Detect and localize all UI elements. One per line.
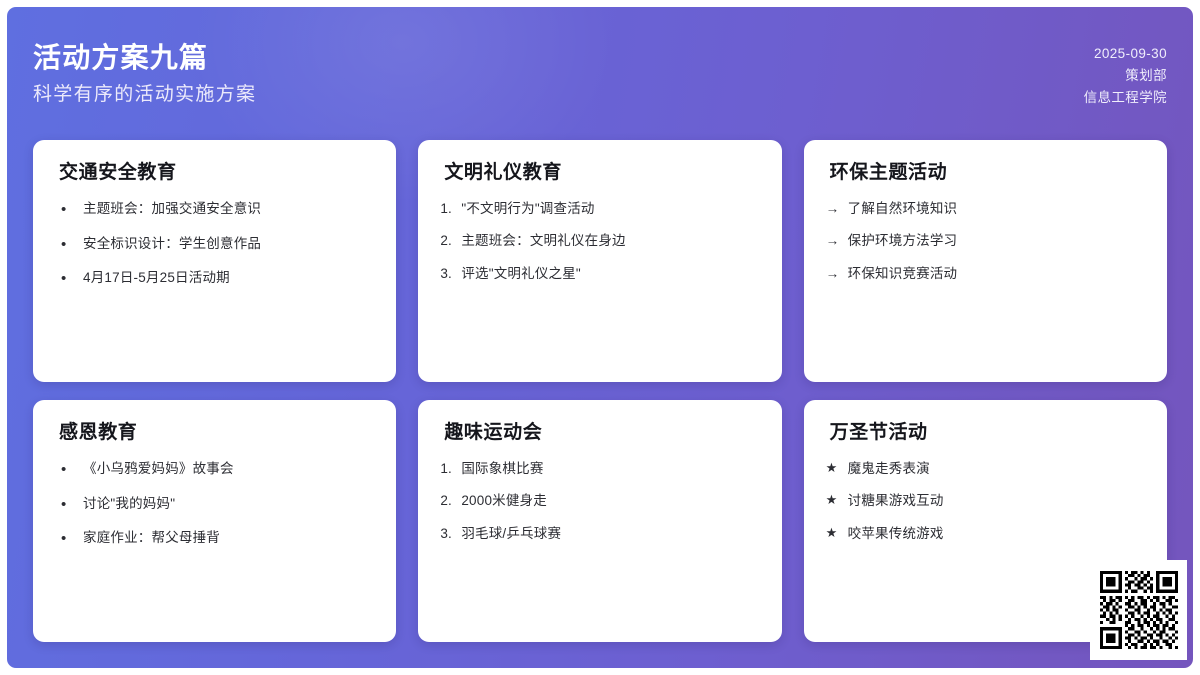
list-item: →保护环境方法学习 (826, 231, 1145, 251)
list-item-label: 讨论"我的妈妈" (83, 494, 374, 514)
card-item-list: •主题班会：加强交通安全意识•安全标识设计：学生创意作品•4月17日-5月25日… (55, 199, 374, 290)
card-item-list: ★魔鬼走秀表演★讨糖果游戏互动★咬苹果传统游戏 (826, 459, 1145, 544)
list-marker-bullet-icon: • (61, 234, 71, 256)
list-item: ★讨糖果游戏互动 (826, 491, 1145, 511)
qr-code-icon (1100, 571, 1178, 649)
list-item: ★魔鬼走秀表演 (826, 459, 1145, 479)
page-subtitle: 科学有序的活动实施方案 (33, 83, 256, 108)
list-marker-num-icon: 1. (440, 459, 454, 479)
list-item-label: 2000米健身走 (461, 491, 759, 511)
list-item: 3.羽毛球/乒乓球赛 (440, 524, 759, 544)
list-item: 2.主题班会：文明礼仪在身边 (440, 231, 759, 251)
list-marker-bullet-icon: • (61, 199, 71, 221)
list-item-label: 羽毛球/乒乓球赛 (461, 524, 759, 544)
list-marker-arrow-icon: → (826, 264, 841, 284)
list-marker-star-icon: ★ (826, 524, 841, 543)
list-item-label: 环保知识竞赛活动 (848, 264, 1145, 284)
list-item-label: 安全标识设计：学生创意作品 (83, 234, 374, 254)
activity-card: 文明礼仪教育1."不文明行为"调查活动2.主题班会：文明礼仪在身边3.评选"文明… (418, 140, 781, 382)
list-marker-bullet-icon: • (61, 268, 71, 290)
list-item-label: 《小乌鸦爱妈妈》故事会 (83, 459, 374, 479)
list-item-label: 咬苹果传统游戏 (848, 524, 1145, 544)
list-item-label: 主题班会：文明礼仪在身边 (461, 231, 759, 251)
list-item-label: 评选"文明礼仪之星" (461, 264, 759, 284)
card-title: 趣味运动会 (444, 422, 759, 445)
header-meta-group: 2025-09-30 策划部 信息工程学院 (1084, 43, 1167, 109)
card-item-list: 1."不文明行为"调查活动2.主题班会：文明礼仪在身边3.评选"文明礼仪之星" (440, 199, 759, 284)
card-item-list: 1.国际象棋比赛2.2000米健身走3.羽毛球/乒乓球赛 (440, 459, 759, 544)
list-marker-bullet-icon: • (61, 459, 71, 481)
meta-organization: 信息工程学院 (1084, 87, 1167, 109)
card-title: 交通安全教育 (59, 162, 374, 185)
list-item-label: 讨糖果游戏互动 (848, 491, 1145, 511)
list-marker-arrow-icon: → (826, 231, 841, 251)
card-title: 万圣节活动 (830, 422, 1145, 445)
list-item: 1."不文明行为"调查活动 (440, 199, 759, 219)
activity-card: 感恩教育•《小乌鸦爱妈妈》故事会•讨论"我的妈妈"•家庭作业：帮父母捶背 (33, 400, 396, 642)
list-item-label: 保护环境方法学习 (848, 231, 1145, 251)
list-marker-arrow-icon: → (826, 199, 841, 219)
activity-card: 交通安全教育•主题班会：加强交通安全意识•安全标识设计：学生创意作品•4月17日… (33, 140, 396, 382)
card-item-list: →了解自然环境知识→保护环境方法学习→环保知识竞赛活动 (826, 199, 1145, 284)
header-title-group: 活动方案九篇 科学有序的活动实施方案 (33, 40, 256, 108)
list-item-label: "不文明行为"调查活动 (461, 199, 759, 219)
activity-card: 趣味运动会1.国际象棋比赛2.2000米健身走3.羽毛球/乒乓球赛 (418, 400, 781, 642)
meta-department: 策划部 (1084, 65, 1167, 87)
list-item-label: 家庭作业：帮父母捶背 (83, 528, 374, 548)
list-marker-num-icon: 3. (440, 524, 454, 544)
list-item-label: 主题班会：加强交通安全意识 (83, 199, 374, 219)
slide-header: 活动方案九篇 科学有序的活动实施方案 2025-09-30 策划部 信息工程学院 (7, 7, 1193, 133)
list-marker-bullet-icon: • (61, 528, 71, 550)
qr-code-container[interactable] (1090, 560, 1187, 660)
list-item: •家庭作业：帮父母捶背 (55, 528, 374, 550)
list-item: 2.2000米健身走 (440, 491, 759, 511)
card-title: 环保主题活动 (830, 162, 1145, 185)
list-item: →了解自然环境知识 (826, 199, 1145, 219)
list-item: •讨论"我的妈妈" (55, 494, 374, 516)
list-item-label: 魔鬼走秀表演 (848, 459, 1145, 479)
page-title: 活动方案九篇 (33, 40, 256, 75)
list-marker-num-icon: 3. (440, 264, 454, 284)
card-title: 感恩教育 (59, 422, 374, 445)
activity-card: 环保主题活动→了解自然环境知识→保护环境方法学习→环保知识竞赛活动 (804, 140, 1167, 382)
list-marker-num-icon: 1. (440, 199, 454, 219)
card-item-list: •《小乌鸦爱妈妈》故事会•讨论"我的妈妈"•家庭作业：帮父母捶背 (55, 459, 374, 550)
list-marker-num-icon: 2. (440, 231, 454, 251)
list-marker-star-icon: ★ (826, 491, 841, 510)
card-title: 文明礼仪教育 (444, 162, 759, 185)
list-item: ★咬苹果传统游戏 (826, 524, 1145, 544)
list-item-label: 4月17日-5月25日活动期 (83, 268, 374, 288)
slide-canvas: 活动方案九篇 科学有序的活动实施方案 2025-09-30 策划部 信息工程学院… (7, 7, 1193, 668)
list-item: →环保知识竞赛活动 (826, 264, 1145, 284)
list-marker-bullet-icon: • (61, 494, 71, 516)
list-item-label: 国际象棋比赛 (461, 459, 759, 479)
list-marker-num-icon: 2. (440, 491, 454, 511)
card-grid: 交通安全教育•主题班会：加强交通安全意识•安全标识设计：学生创意作品•4月17日… (33, 140, 1167, 642)
list-marker-star-icon: ★ (826, 459, 841, 478)
list-item: 3.评选"文明礼仪之星" (440, 264, 759, 284)
meta-date: 2025-09-30 (1084, 43, 1167, 65)
list-item: 1.国际象棋比赛 (440, 459, 759, 479)
list-item: •4月17日-5月25日活动期 (55, 268, 374, 290)
list-item: •安全标识设计：学生创意作品 (55, 234, 374, 256)
list-item: •《小乌鸦爱妈妈》故事会 (55, 459, 374, 481)
list-item: •主题班会：加强交通安全意识 (55, 199, 374, 221)
list-item-label: 了解自然环境知识 (848, 199, 1145, 219)
